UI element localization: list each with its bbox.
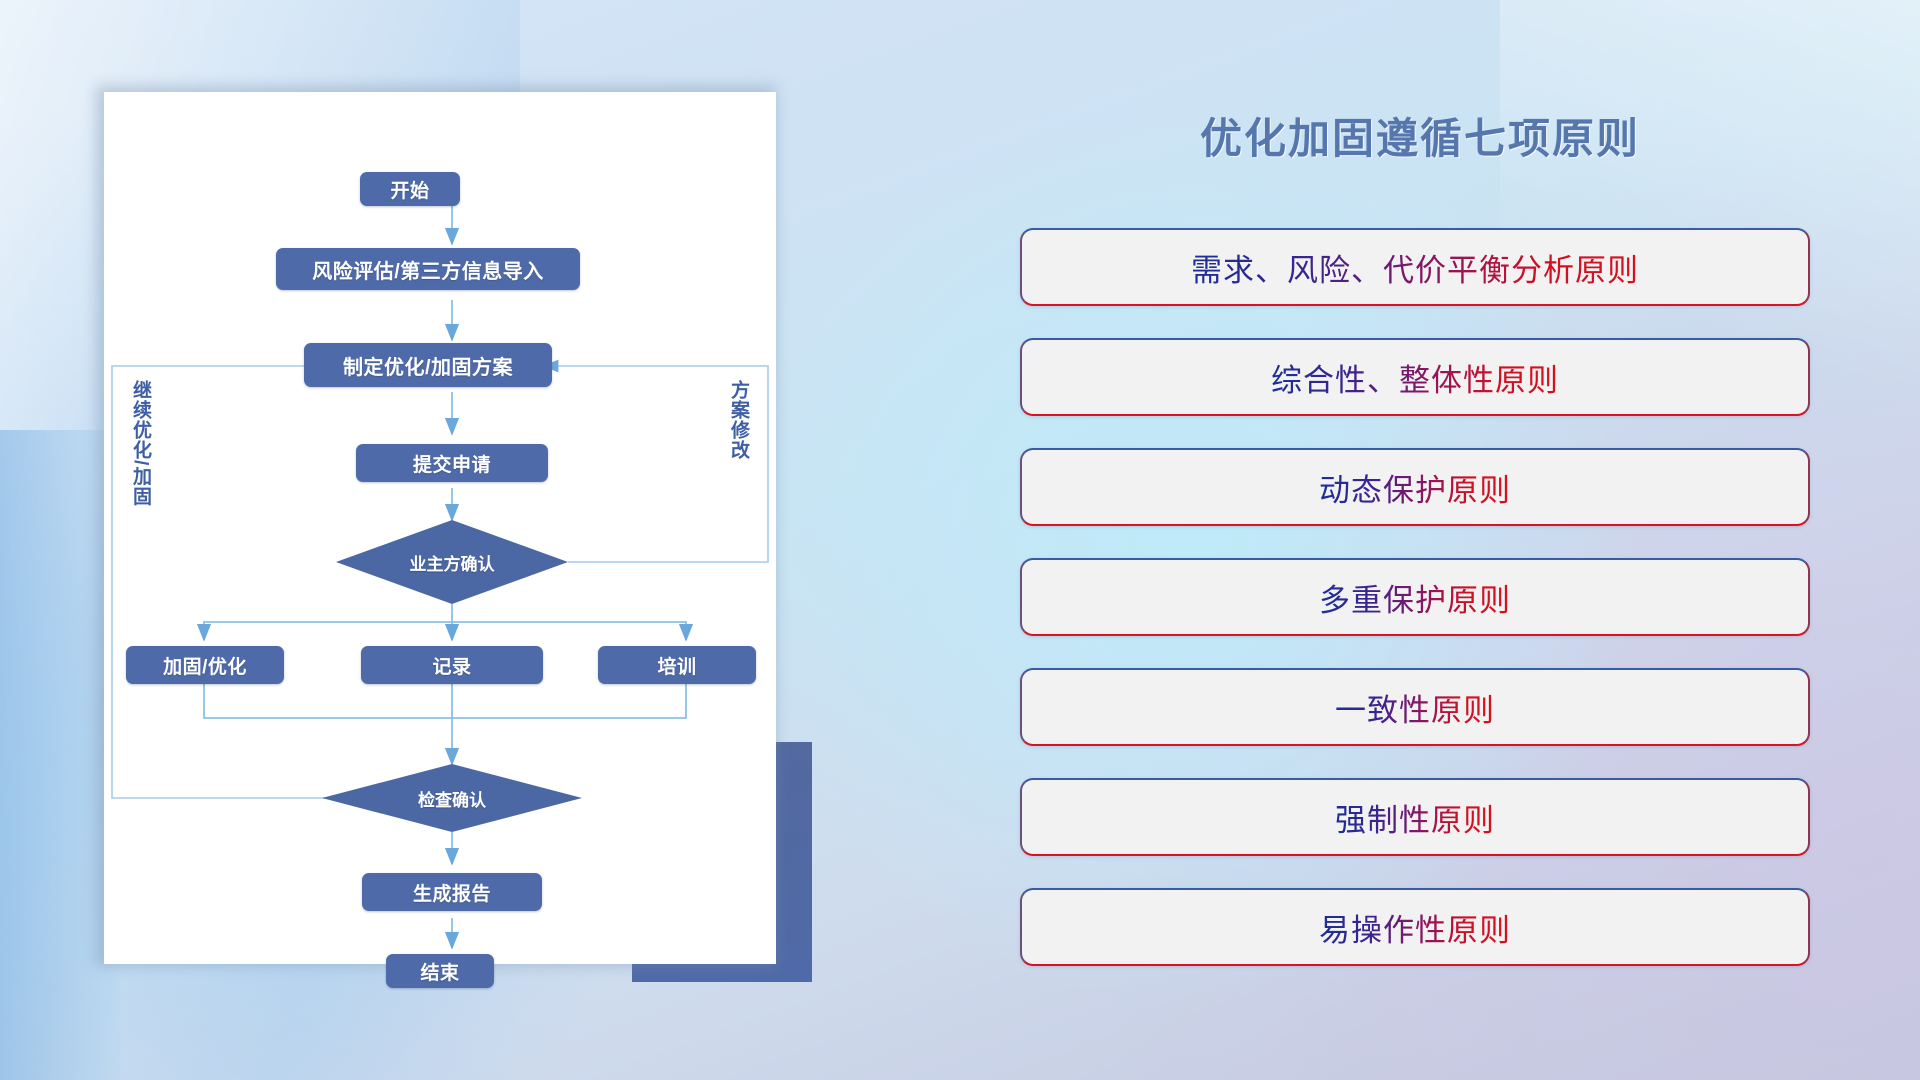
flow-node-submit[interactable]: 提交申请 — [356, 444, 548, 482]
principle-item-4[interactable]: 多重保护原则 — [1020, 558, 1810, 636]
principle-item-7[interactable]: 易操作性原则 — [1020, 888, 1810, 966]
flowchart-card: 开始 风险评估/第三方信息导入 制定优化/加固方案 提交申请 业主方确认 加固/… — [104, 92, 776, 964]
principles-list: 需求、风险、代价平衡分析原则 综合性、整体性原则 动态保护原则 多重保护原则 一… — [1020, 228, 1810, 998]
principle-item-3-label: 动态保护原则 — [1319, 465, 1511, 510]
flow-node-end[interactable]: 结束 — [386, 954, 494, 988]
principle-item-4-label: 多重保护原则 — [1319, 575, 1511, 620]
principle-item-6-label: 强制性原则 — [1335, 795, 1495, 840]
principles-panel: 优化加固遵循七项原则 需求、风险、代价平衡分析原则 综合性、整体性原则 动态保护… — [1020, 0, 1920, 1080]
principle-item-1-label: 需求、风险、代价平衡分析原则 — [1191, 245, 1639, 290]
edge-label-continue-optimize: 继续优化/加固 — [130, 380, 150, 540]
flow-node-report-label: 生成报告 — [413, 879, 491, 906]
flow-node-reinforce-label: 加固/优化 — [163, 652, 247, 679]
flow-node-start[interactable]: 开始 — [360, 172, 460, 206]
flow-node-plan[interactable]: 制定优化/加固方案 — [304, 343, 552, 387]
flow-node-report[interactable]: 生成报告 — [362, 873, 542, 911]
principle-item-3[interactable]: 动态保护原则 — [1020, 448, 1810, 526]
principles-panel-title: 优化加固遵循七项原则 — [1020, 105, 1820, 166]
flow-node-record-label: 记录 — [432, 652, 471, 679]
flow-node-training-label: 培训 — [657, 652, 696, 679]
flow-node-end-label: 结束 — [420, 958, 459, 985]
principle-item-5[interactable]: 一致性原则 — [1020, 668, 1810, 746]
principle-item-2-label: 综合性、整体性原则 — [1271, 355, 1559, 400]
flow-node-plan-label: 制定优化/加固方案 — [343, 351, 513, 380]
flow-node-record[interactable]: 记录 — [361, 646, 543, 684]
flowchart-connectors — [104, 92, 776, 964]
flow-node-training[interactable]: 培训 — [598, 646, 756, 684]
principle-item-5-label: 一致性原则 — [1335, 685, 1495, 730]
principle-item-2[interactable]: 综合性、整体性原则 — [1020, 338, 1810, 416]
flowchart-region: 开始 风险评估/第三方信息导入 制定优化/加固方案 提交申请 业主方确认 加固/… — [0, 0, 930, 1080]
edge-label-plan-revision: 方案修改 — [728, 380, 748, 500]
flow-node-reinforce[interactable]: 加固/优化 — [126, 646, 284, 684]
principle-item-7-label: 易操作性原则 — [1319, 905, 1511, 950]
principle-item-6[interactable]: 强制性原则 — [1020, 778, 1810, 856]
principle-item-1[interactable]: 需求、风险、代价平衡分析原则 — [1020, 228, 1810, 306]
diamond-owner-confirm — [336, 520, 568, 604]
flow-node-risk-assessment-label: 风险评估/第三方信息导入 — [312, 255, 544, 284]
diamond-check-confirm — [322, 764, 582, 832]
flow-node-risk-assessment[interactable]: 风险评估/第三方信息导入 — [276, 248, 580, 290]
flow-node-start-label: 开始 — [390, 176, 429, 203]
flow-node-submit-label: 提交申请 — [413, 450, 491, 477]
